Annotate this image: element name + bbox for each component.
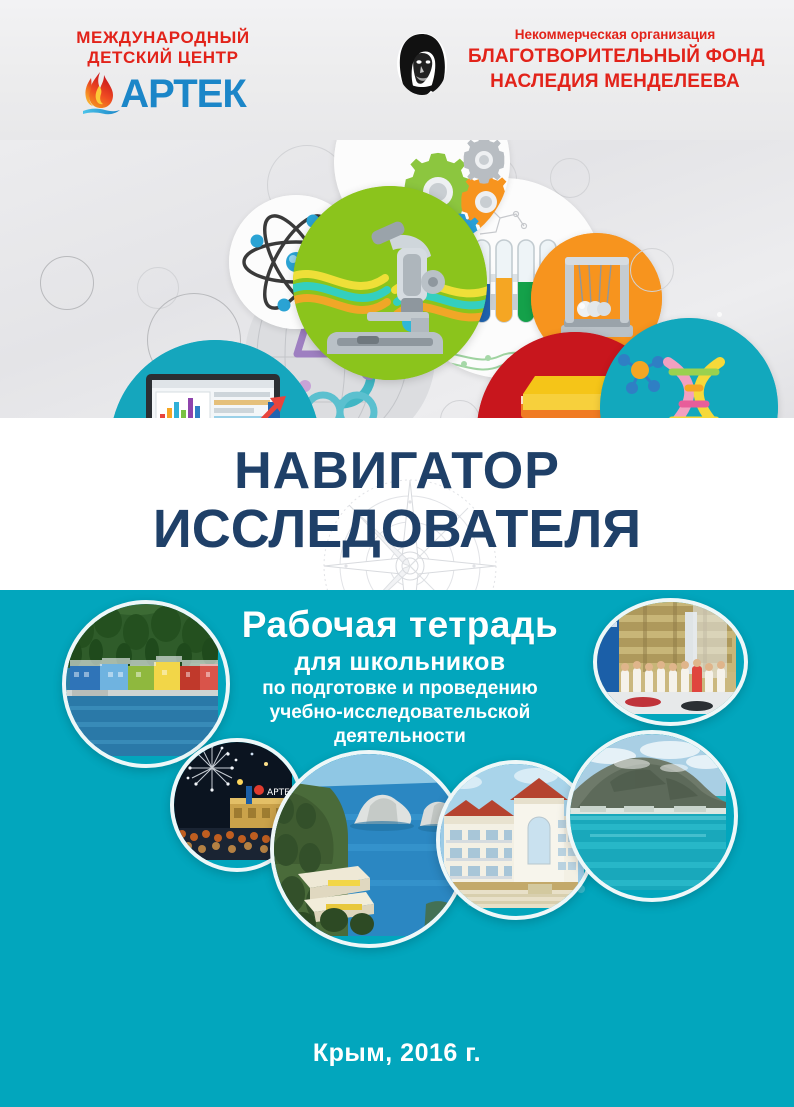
- title-band: НАВИГАТОР ИССЛЕДОВАТЕЛЯ: [0, 418, 794, 590]
- photo-ayu-dag-mountain: [566, 730, 738, 902]
- microscope-bubble: [293, 186, 487, 380]
- place-year-text: Крым, 2016 г.: [0, 1039, 794, 1068]
- decorative-ring-icon: [40, 256, 94, 310]
- photo-children-group: [593, 598, 748, 726]
- decorative-dot-icon: [717, 312, 722, 317]
- subtitle-band: Рабочая тетрадь для школьников по подгот…: [0, 590, 794, 1107]
- artek-logo: МЕЖДУНАРОДНЫЙ ДЕТСКИЙ ЦЕНТР: [38, 28, 288, 118]
- header-band: МЕЖДУНАРОДНЫЙ ДЕТСКИЙ ЦЕНТР: [0, 0, 794, 140]
- artek-logo-line1: МЕЖДУНАРОДНЫЙ: [38, 28, 288, 48]
- decorative-ring-icon: [440, 400, 480, 418]
- subtitle-block: Рабочая тетрадь для школьников по подгот…: [190, 603, 610, 749]
- subtitle-line-3: по подготовке и проведению: [190, 677, 610, 701]
- artek-logo-line2: ДЕТСКИЙ ЦЕНТР: [38, 48, 288, 68]
- mendeleev-logo-line1: Некоммерческая организация: [468, 26, 762, 44]
- mendeleev-logo-line3: НАСЛЕДИЯ МЕНДЕЛЕЕВА: [468, 69, 762, 94]
- subtitle-line-4: учебно-исследовательской: [190, 701, 610, 725]
- title-line-2: ИССЛЕДОВАТЕЛЯ: [0, 500, 794, 558]
- subtitle-line-2: для школьников: [190, 647, 610, 677]
- artek-wordmark: АРТЕК: [120, 73, 246, 115]
- flame-wave-icon: [80, 70, 122, 118]
- decorative-ring-icon: [630, 248, 674, 292]
- dna-bubble: [600, 318, 778, 418]
- mendeleev-portrait-icon: [392, 32, 452, 96]
- page-title: НАВИГАТОР ИССЛЕДОВАТЕЛЯ: [0, 442, 794, 558]
- subtitle-line-1: Рабочая тетрадь: [190, 603, 610, 647]
- photo-artek-seaside-buildings: [62, 600, 230, 768]
- laptop-charts-bubble: [110, 340, 320, 418]
- title-line-1: НАВИГАТОР: [0, 442, 794, 500]
- science-collage-band: ab x² N: [0, 140, 794, 418]
- mendeleev-logo-line2: БЛАГОТВОРИТЕЛЬНЫЙ ФОНД: [468, 44, 762, 69]
- book-cover-page: МЕЖДУНАРОДНЫЙ ДЕТСКИЙ ЦЕНТР: [0, 0, 794, 1107]
